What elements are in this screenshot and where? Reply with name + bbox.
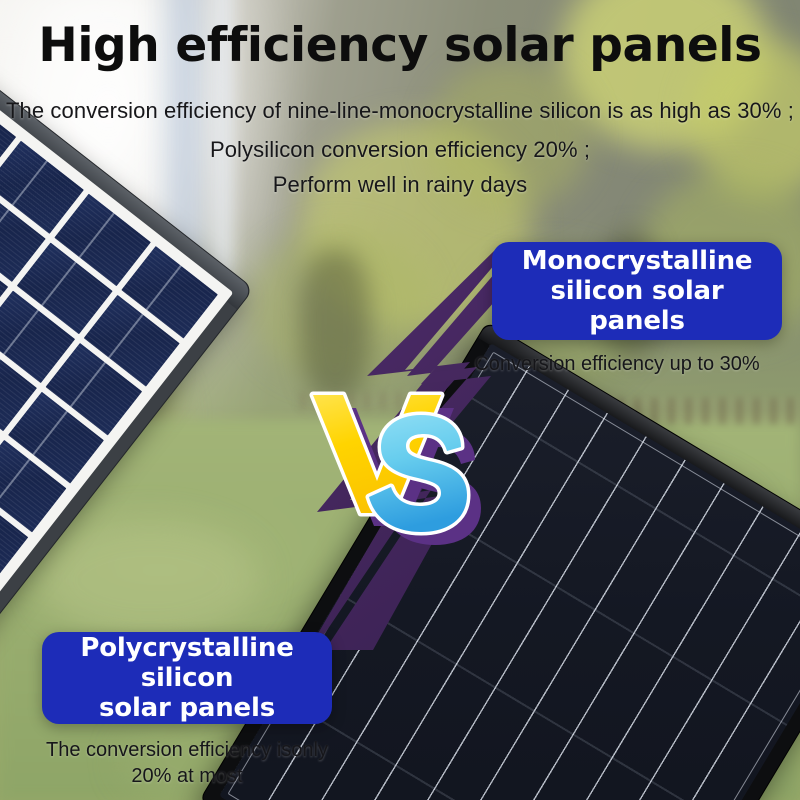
infographic-canvas: High efficiency solar panels The convers… xyxy=(0,0,800,800)
caption-line-2: 20% at most xyxy=(131,765,242,787)
subtitle-line-1: The conversion efficiency of nine-line-m… xyxy=(0,98,800,124)
badge-line-2: solar panels xyxy=(99,693,275,723)
badge-line-2: silicon solar panels xyxy=(550,276,723,336)
polycrystalline-label-badge: Polycrystalline silicon solar panels xyxy=(42,632,332,724)
subtitle-line-3: Perform well in rainy days xyxy=(0,172,800,198)
grass-highlight xyxy=(40,520,260,640)
caption-line-1: Conversion efficiency up to 30% xyxy=(474,353,759,375)
polycrystalline-caption: The conversion efficiency isonly 20% at … xyxy=(22,738,352,789)
caption-line-1: The conversion efficiency isonly xyxy=(46,739,328,761)
badge-line-1: Monocrystalline xyxy=(522,246,753,276)
page-title: High efficiency solar panels xyxy=(0,22,800,69)
badge-line-1: Polycrystalline silicon xyxy=(80,633,293,693)
monocrystalline-caption: Conversion efficiency up to 30% xyxy=(452,352,782,378)
subtitle-line-2: Polysilicon conversion efficiency 20% ; xyxy=(0,137,800,163)
monocrystalline-label-badge: Monocrystalline silicon solar panels xyxy=(492,242,782,340)
versus-badge xyxy=(285,385,500,555)
